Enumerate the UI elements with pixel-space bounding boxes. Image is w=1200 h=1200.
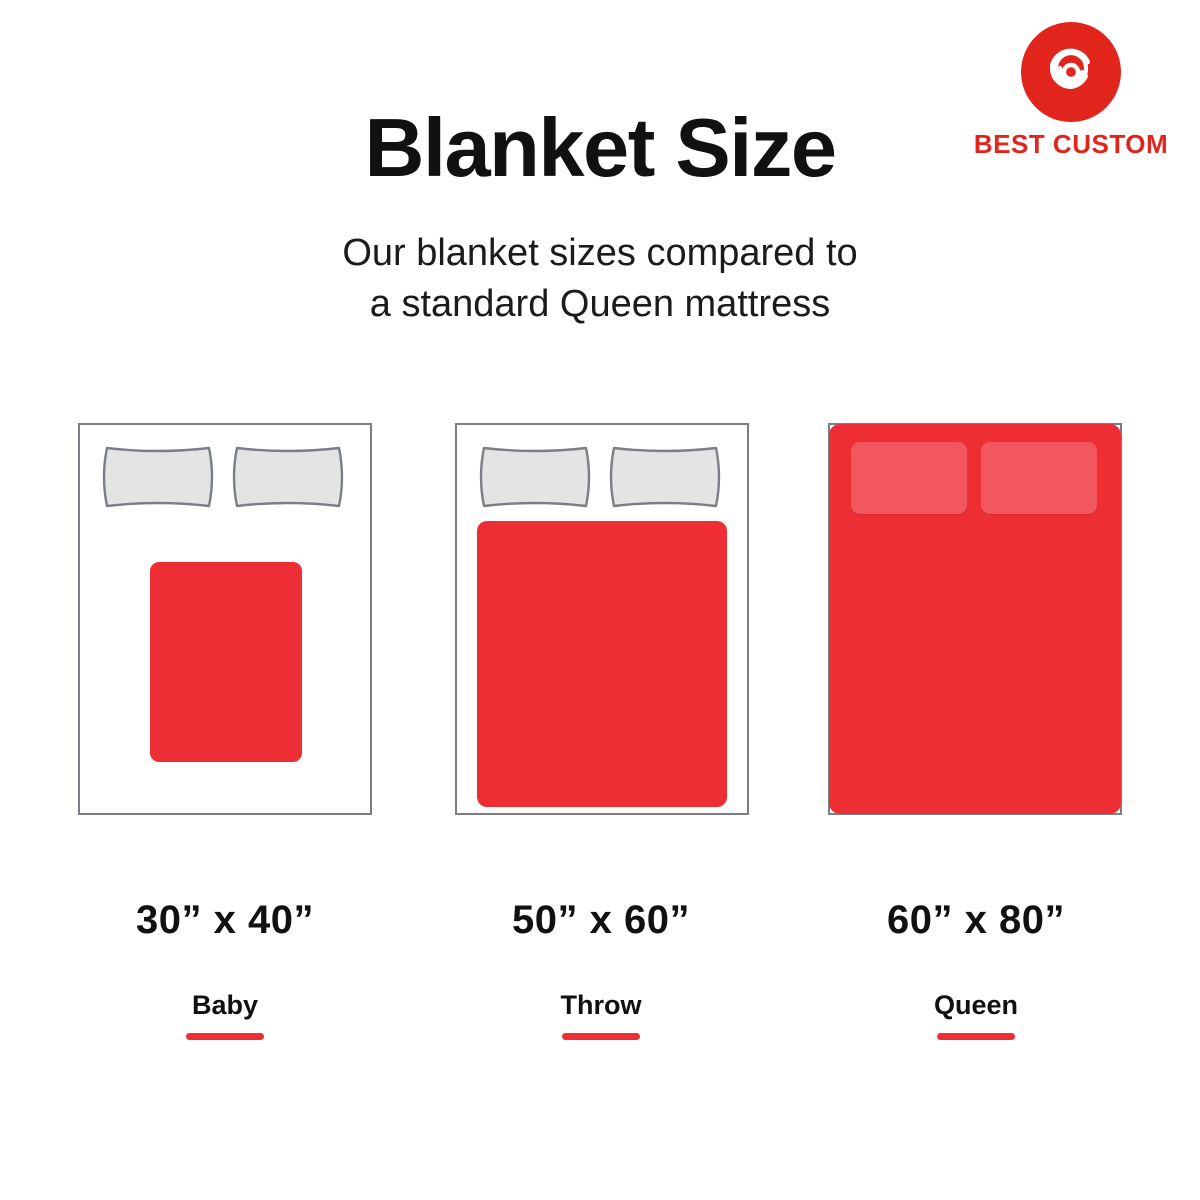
pillow-left-icon bbox=[100, 441, 216, 513]
infographic-canvas: BEST CUSTOM Blanket Size Our blanket siz… bbox=[0, 0, 1200, 1200]
subtitle-line-2: a standard Queen mattress bbox=[0, 279, 1200, 330]
fingerprint-icon bbox=[1034, 35, 1108, 109]
bed-diagram-group bbox=[0, 423, 1200, 817]
bed-diagram-baby bbox=[78, 423, 372, 815]
page-title: Blanket Size bbox=[0, 104, 1200, 191]
pillow-right-icon bbox=[981, 442, 1097, 514]
accent-underline bbox=[562, 1033, 640, 1040]
dimensions-label: 30” x 40” bbox=[45, 900, 405, 940]
size-name-label: Throw bbox=[421, 992, 781, 1019]
bed-diagram-throw bbox=[455, 423, 749, 815]
pillow-left-icon bbox=[477, 441, 593, 513]
size-name-label: Baby bbox=[45, 992, 405, 1019]
blanket-throw bbox=[477, 521, 727, 807]
dimensions-label: 50” x 60” bbox=[421, 900, 781, 940]
pillow-right-icon bbox=[607, 441, 723, 513]
accent-underline bbox=[186, 1033, 264, 1040]
blanket-baby bbox=[150, 562, 302, 762]
page-subtitle: Our blanket sizes compared to a standard… bbox=[0, 228, 1200, 331]
subtitle-line-1: Our blanket sizes compared to bbox=[342, 232, 857, 274]
accent-underline bbox=[937, 1033, 1015, 1040]
dimensions-label: 60” x 80” bbox=[796, 900, 1156, 940]
caption-queen: 60” x 80” Queen bbox=[796, 900, 1156, 1040]
caption-baby: 30” x 40” Baby bbox=[45, 900, 405, 1040]
pillow-left-icon bbox=[851, 442, 967, 514]
pillow-right-icon bbox=[230, 441, 346, 513]
size-name-label: Queen bbox=[796, 992, 1156, 1019]
bed-diagram-queen bbox=[828, 423, 1122, 815]
caption-throw: 50” x 60” Throw bbox=[421, 900, 781, 1040]
blanket-queen bbox=[829, 424, 1121, 814]
